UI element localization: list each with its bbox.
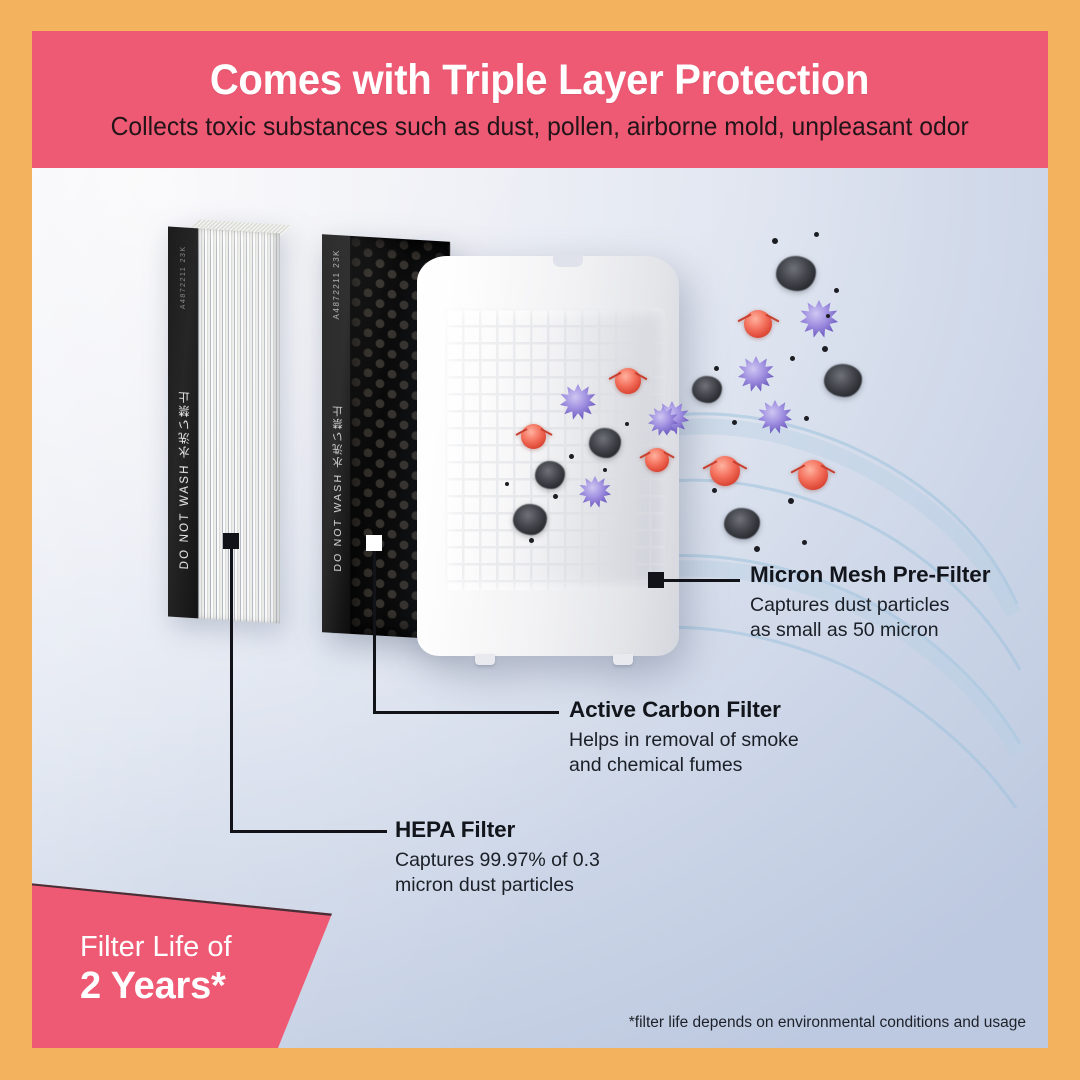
callout-active-carbon-filter: Active Carbon Filter Helps in removal of… — [569, 697, 799, 779]
callout-desc-carbon: Helps in removal of smoke and chemical f… — [569, 728, 799, 780]
particle-dust-dot-black — [603, 468, 607, 472]
particle-pollen-red — [521, 424, 546, 449]
hepa-frame-band: DO NOT WASH 水洗い禁止 A4872211 23K — [168, 226, 198, 618]
filter-life-badge: Filter Life of 2 Years* — [32, 880, 332, 1048]
callout-title-carbon: Active Carbon Filter — [569, 697, 799, 724]
filter-life-badge-text: Filter Life of 2 Years* — [80, 932, 232, 1007]
particle-dust-dot-black — [802, 540, 807, 545]
callout-title-hepa: HEPA Filter — [395, 817, 600, 844]
particle-smoke-blob-dark — [692, 376, 722, 403]
particle-dust-dot-black — [714, 366, 719, 371]
particle-dust-dot-black — [625, 422, 629, 426]
particle-pollen-red — [645, 448, 669, 472]
page-subtitle: Collects toxic substances such as dust, … — [111, 112, 969, 141]
particle-dust-dot-black — [732, 420, 737, 425]
particle-dust-dot-black — [834, 288, 839, 293]
particle-smoke-blob-dark — [776, 256, 816, 291]
particle-dust-dot-black — [790, 356, 795, 361]
particle-smoke-blob-dark — [589, 428, 621, 458]
leader-line-micron-mesh — [664, 579, 740, 582]
particle-dust-dot-black — [814, 232, 819, 237]
particle-dust-dot-black — [505, 482, 509, 486]
mesh-top-notch — [553, 254, 583, 267]
leader-line-hepa-vertical — [230, 549, 233, 832]
particle-allergen-spike-purple — [758, 400, 792, 434]
particle-dust-dot-black — [788, 498, 794, 504]
particle-smoke-blob-dark — [535, 461, 565, 489]
mesh-foot-left — [475, 654, 495, 665]
particle-dust-dot-black — [804, 416, 809, 421]
header-banner: Comes with Triple Layer Protection Colle… — [32, 31, 1048, 168]
particle-smoke-blob-dark — [824, 364, 862, 397]
particle-dust-dot-black — [754, 546, 760, 552]
callout-title-micron-mesh: Micron Mesh Pre-Filter — [750, 562, 990, 589]
leader-line-hepa-horizontal — [230, 830, 387, 833]
orange-frame: Comes with Triple Layer Protection Colle… — [0, 0, 1080, 1080]
particle-smoke-blob-dark — [513, 504, 547, 535]
leader-line-carbon-vertical — [373, 551, 376, 713]
particle-dust-dot-black — [826, 314, 830, 318]
callout-micron-mesh-pre-filter: Micron Mesh Pre-Filter Captures dust par… — [750, 562, 990, 644]
footnote-text: *filter life depends on environmental co… — [629, 1014, 1026, 1032]
particle-allergen-spike-purple — [738, 356, 774, 392]
particle-dust-dot-black — [712, 488, 717, 493]
mesh-grid-shading — [445, 308, 665, 590]
particle-dust-dot-black — [772, 238, 778, 244]
leader-line-carbon-horizontal — [373, 711, 559, 714]
mesh-foot-right — [613, 654, 633, 665]
particle-smoke-blob-dark — [724, 508, 760, 539]
micron-mesh-pre-filter-panel — [417, 256, 679, 656]
filter-life-line1: Filter Life of — [80, 932, 232, 963]
callout-hepa-filter: HEPA Filter Captures 99.97% of 0.3 micro… — [395, 817, 600, 899]
particle-pollen-red — [798, 460, 828, 490]
particle-dust-dot-black — [529, 538, 534, 543]
callout-desc-hepa: Captures 99.97% of 0.3 micron dust parti… — [395, 848, 600, 900]
particle-pollen-red — [744, 310, 772, 338]
particle-dust-dot-black — [569, 454, 574, 459]
marker-micron-mesh-pre-filter — [648, 572, 664, 588]
marker-active-carbon-filter — [366, 535, 382, 551]
hepa-part-code: A4872211 23K — [180, 245, 187, 309]
particle-pollen-red — [710, 456, 740, 486]
marker-hepa-filter — [223, 533, 239, 549]
hepa-warning-label: DO NOT WASH 水洗い禁止 — [177, 389, 193, 570]
filter-life-line2: 2 Years* — [80, 966, 232, 1007]
particle-dust-dot-black — [822, 346, 828, 352]
particle-pollen-red — [615, 368, 641, 394]
particle-allergen-spike-purple — [800, 300, 838, 338]
product-illustration-stage: DO NOT WASH 水洗い禁止 A4872211 23K DO NOT WA… — [32, 168, 1048, 1048]
page-title: Comes with Triple Layer Protection — [210, 58, 869, 103]
hepa-filter-panel: DO NOT WASH 水洗い禁止 A4872211 23K — [168, 226, 280, 623]
particle-dust-dot-black — [553, 494, 558, 499]
hepa-pleated-media — [198, 228, 280, 623]
callout-desc-micron-mesh: Captures dust particles as small as 50 m… — [750, 593, 990, 645]
